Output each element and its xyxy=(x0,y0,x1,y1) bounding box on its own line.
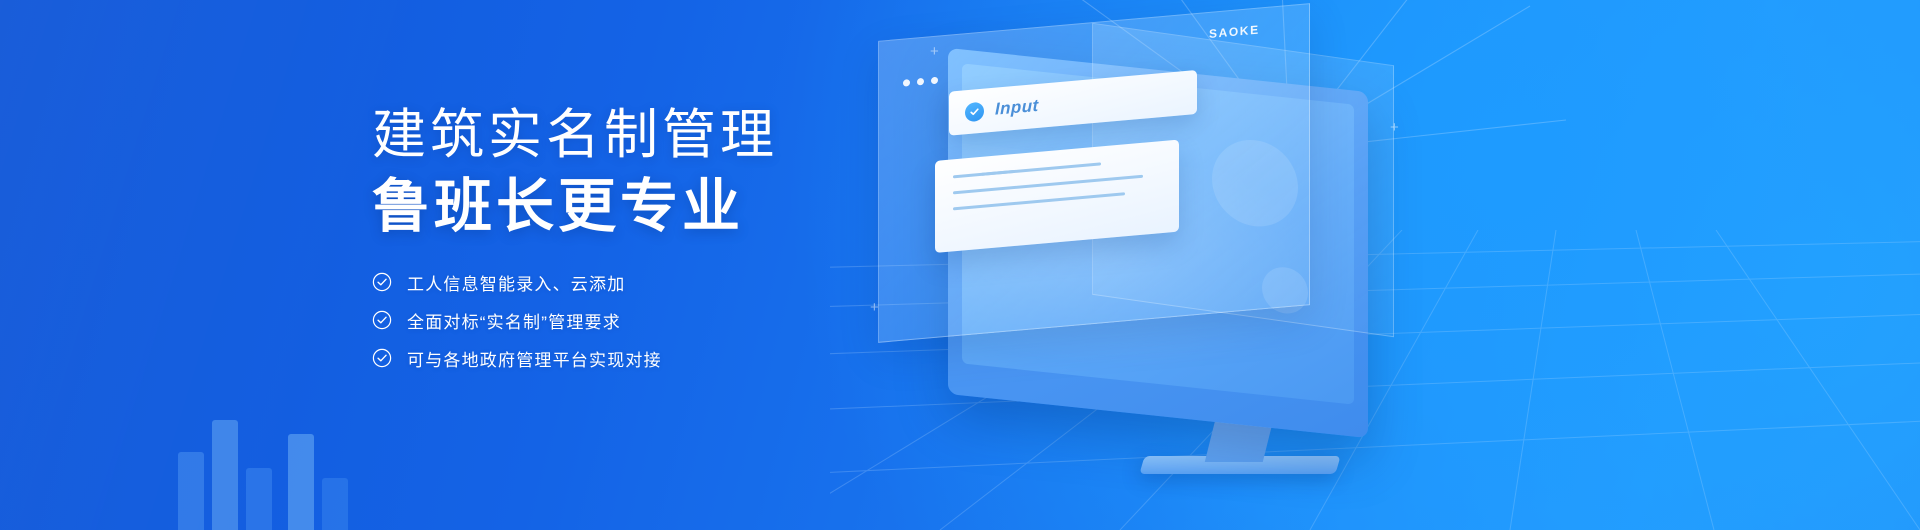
decorative-bar xyxy=(288,434,314,530)
window-chrome-dots xyxy=(903,77,938,87)
input-card-label: Input xyxy=(995,96,1039,120)
check-badge-icon xyxy=(965,101,984,122)
decorative-bar xyxy=(212,420,238,530)
glass-panel-front: Input SAOKE xyxy=(878,3,1310,343)
decorative-bar xyxy=(246,468,272,530)
decorative-bar xyxy=(178,452,204,530)
headline-secondary: 鲁班长更专业 xyxy=(372,173,832,240)
brand-label: SAOKE xyxy=(1209,23,1260,41)
window-dot-icon xyxy=(903,79,910,87)
hero-banner: 建筑实名制管理 鲁班长更专业 工人信息智能录入、云添加 xyxy=(0,0,1920,530)
decorative-bar xyxy=(322,478,348,530)
content-line xyxy=(981,162,1101,175)
hero-copy: 建筑实名制管理 鲁班长更专业 工人信息智能录入、云添加 xyxy=(372,104,832,384)
content-lines-card xyxy=(935,140,1179,253)
input-card[interactable]: Input xyxy=(949,70,1197,136)
window-dot-icon xyxy=(917,78,924,86)
plus-decoration-icon: + xyxy=(1390,120,1399,135)
feature-item: 可与各地政府管理平台实现对接 xyxy=(372,346,832,371)
feature-label: 全面对标“实名制”管理要求 xyxy=(407,308,621,333)
feature-list: 工人信息智能录入、云添加 全面对标“实名制”管理要求 xyxy=(372,270,832,371)
plus-decoration-icon: + xyxy=(930,44,939,59)
plus-decoration-icon: + xyxy=(870,300,879,315)
feature-item: 全面对标“实名制”管理要求 xyxy=(372,308,832,333)
check-circle-icon xyxy=(372,310,392,330)
feature-label: 可与各地政府管理平台实现对接 xyxy=(407,346,662,371)
feature-item: 工人信息智能录入、云添加 xyxy=(372,270,832,295)
decorative-bar-chart xyxy=(170,390,400,530)
feature-label: 工人信息智能录入、云添加 xyxy=(407,270,625,295)
check-circle-icon xyxy=(372,348,392,368)
content-line xyxy=(953,175,1143,195)
window-dot-icon xyxy=(931,77,938,85)
check-circle-icon xyxy=(372,272,392,292)
content-line xyxy=(953,192,1125,210)
hero-illustration: Input SAOKE + + + xyxy=(830,0,1920,530)
headline-primary: 建筑实名制管理 xyxy=(372,104,832,167)
